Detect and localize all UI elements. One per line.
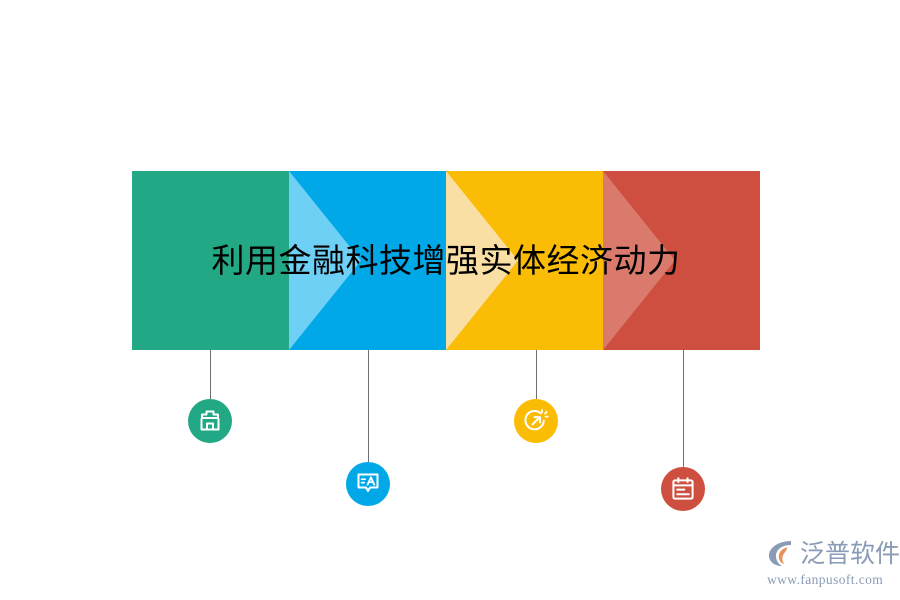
calendar-notes-icon — [670, 476, 696, 502]
store-icon — [197, 408, 223, 434]
diagram-canvas: 利用金融科技增强实体经济动力 泛普软件 www.fanpusoft.com — [0, 0, 900, 600]
watermark-brand-name: 泛普软件 — [800, 541, 900, 566]
growth-arrow-icon — [523, 408, 549, 434]
node-notes[interactable] — [661, 467, 705, 511]
node-translate-chat[interactable] — [346, 462, 390, 506]
node-notes-connector-line — [683, 350, 684, 467]
node-growth[interactable] — [514, 399, 558, 443]
watermark: 泛普软件 www.fanpusoft.com — [765, 535, 895, 593]
node-translate-chat-connector-line — [368, 350, 369, 462]
node-growth-connector-line — [536, 350, 537, 399]
watermark-url: www.fanpusoft.com — [767, 572, 895, 588]
node-store[interactable] — [188, 399, 232, 443]
node-store-connector-line — [210, 350, 211, 399]
banner-title: 利用金融科技增强实体经济动力 — [132, 171, 760, 350]
translate-chat-icon — [355, 471, 381, 497]
fanpu-logo-icon — [765, 537, 797, 569]
